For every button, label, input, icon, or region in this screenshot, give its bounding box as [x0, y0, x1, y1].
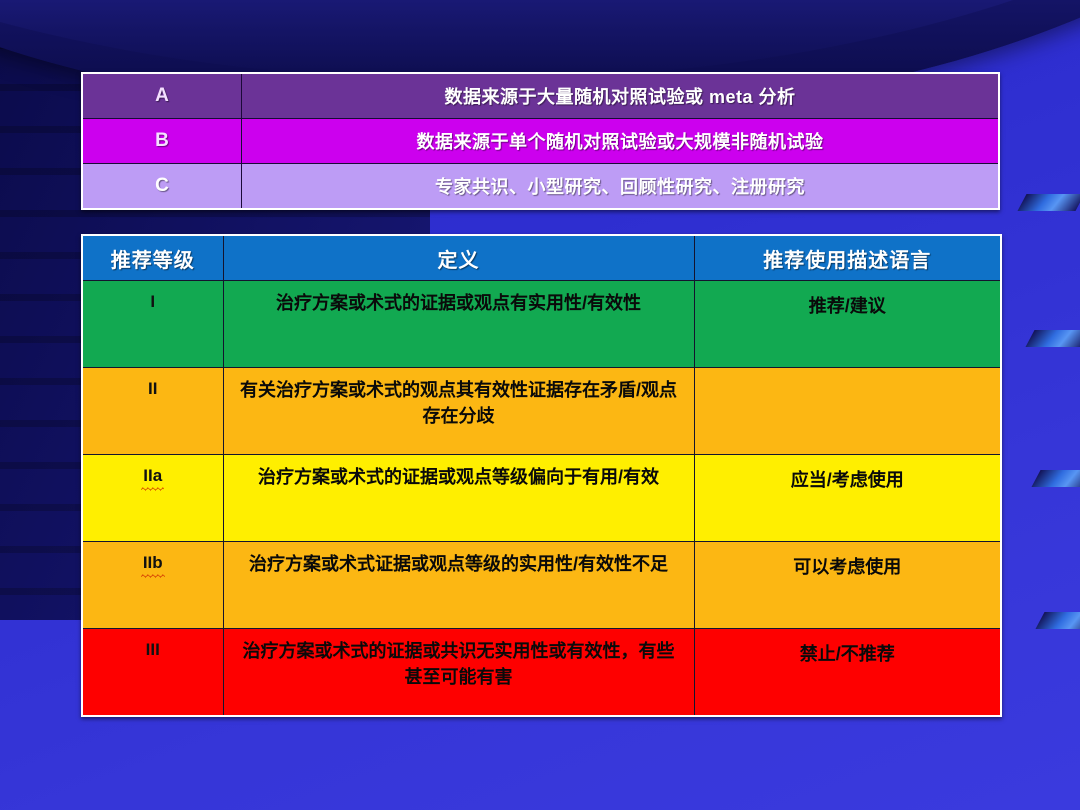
background-accent-dash-1: [1017, 194, 1080, 211]
table-row: B 数据来源于单个随机对照试验或大规模非随机试验: [82, 119, 999, 164]
table-row: C 专家共识、小型研究、回顾性研究、注册研究: [82, 164, 999, 210]
recommendation-definition-ii: 有关治疗方案或术式的观点其有效性证据存在矛盾/观点存在分歧: [223, 368, 694, 455]
grade-label-text: IIb: [143, 553, 163, 573]
recommendation-language-ii: [694, 368, 1001, 455]
column-header-grade: 推荐等级: [82, 235, 223, 281]
table-row: A 数据来源于大量随机对照试验或 meta 分析: [82, 73, 999, 119]
evidence-grade-a: A: [82, 73, 242, 119]
grade-label-text: II: [148, 379, 157, 399]
recommendation-definition-iii: 治疗方案或术式的证据或共识无实用性或有效性，有些甚至可能有害: [223, 629, 694, 716]
table-row: IIa 治疗方案或术式的证据或观点等级偏向于有用/有效 应当/考虑使用: [82, 455, 1001, 542]
grade-label-text: I: [150, 292, 155, 312]
evidence-description-b: 数据来源于单个随机对照试验或大规模非随机试验: [242, 119, 1000, 164]
recommendation-language-iia: 应当/考虑使用: [694, 455, 1001, 542]
background-accent-dash-3: [1031, 470, 1080, 487]
evidence-grade-c: C: [82, 164, 242, 210]
recommendation-grade-i: I: [82, 281, 223, 368]
grade-label-text: III: [146, 640, 160, 660]
table-header-row: 推荐等级 定义 推荐使用描述语言: [82, 235, 1001, 281]
table-row: II 有关治疗方案或术式的观点其有效性证据存在矛盾/观点存在分歧: [82, 368, 1001, 455]
recommendation-language-iib: 可以考虑使用: [694, 542, 1001, 629]
recommendation-language-i: 推荐/建议: [694, 281, 1001, 368]
evidence-description-c: 专家共识、小型研究、回顾性研究、注册研究: [242, 164, 1000, 210]
tables-container: A 数据来源于大量随机对照试验或 meta 分析 B 数据来源于单个随机对照试验…: [81, 72, 1000, 717]
grade-label-text: IIa: [143, 466, 162, 486]
background-accent-dash-4: [1035, 612, 1080, 629]
recommendation-grade-ii: II: [82, 368, 223, 455]
recommendation-definition-iib: 治疗方案或术式证据或观点等级的实用性/有效性不足: [223, 542, 694, 629]
evidence-grade-b: B: [82, 119, 242, 164]
recommendation-grade-iii: III: [82, 629, 223, 716]
evidence-level-table: A 数据来源于大量随机对照试验或 meta 分析 B 数据来源于单个随机对照试验…: [81, 72, 1000, 210]
column-header-language: 推荐使用描述语言: [694, 235, 1001, 281]
table-row: I 治疗方案或术式的证据或观点有实用性/有效性 推荐/建议: [82, 281, 1001, 368]
table-row: IIb 治疗方案或术式证据或观点等级的实用性/有效性不足 可以考虑使用: [82, 542, 1001, 629]
recommendation-language-iii: 禁止/不推荐: [694, 629, 1001, 716]
evidence-description-a: 数据来源于大量随机对照试验或 meta 分析: [242, 73, 1000, 119]
recommendation-definition-i: 治疗方案或术式的证据或观点有实用性/有效性: [223, 281, 694, 368]
background-accent-dash-2: [1025, 330, 1080, 347]
recommendation-definition-iia: 治疗方案或术式的证据或观点等级偏向于有用/有效: [223, 455, 694, 542]
recommendation-class-table: 推荐等级 定义 推荐使用描述语言 I 治疗方案或术式的证据或观点有实用性/有效性…: [81, 234, 1002, 717]
column-header-definition: 定义: [223, 235, 694, 281]
recommendation-grade-iib: IIb: [82, 542, 223, 629]
table-row: III 治疗方案或术式的证据或共识无实用性或有效性，有些甚至可能有害 禁止/不推…: [82, 629, 1001, 716]
recommendation-grade-iia: IIa: [82, 455, 223, 542]
